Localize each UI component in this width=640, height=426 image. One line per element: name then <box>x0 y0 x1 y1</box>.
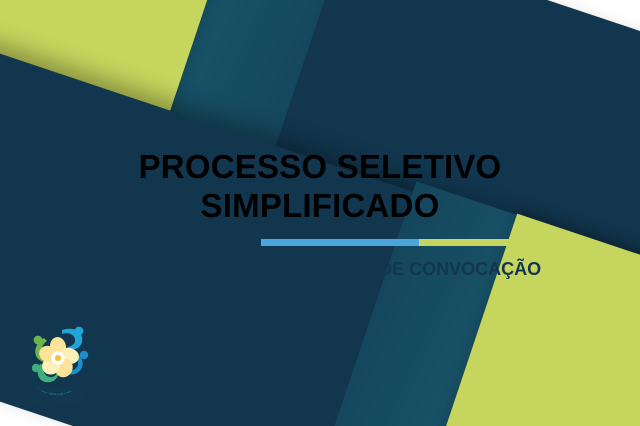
divider-segment-blue <box>261 239 419 246</box>
title-line-2: SIMPLIFICADO <box>0 187 640 226</box>
title-line-1: PROCESSO SELETIVO <box>0 148 640 187</box>
organization-logo: Cuidando para você feliz ALTO PARAÍSO DE… <box>24 320 206 404</box>
department-name: SECRETARIA MUNICIPAL DE SAÚDE E SANEAMEN… <box>107 324 206 401</box>
subtitle-line-2: N°006/2021 <box>0 281 640 304</box>
department-line-2: MUNICIPAL <box>107 343 192 362</box>
divider-segment-green <box>419 239 563 246</box>
logo-divider-line <box>98 324 99 400</box>
page-title: PROCESSO SELETIVO SIMPLIFICADO <box>0 148 640 225</box>
page-subtitle: PROCESSO SELETIVO - EDITAL DE CONVOCAÇÃO… <box>0 258 640 304</box>
seal-state-name: DE GOIÁS <box>31 397 68 404</box>
department-line-1: SECRETARIA <box>107 324 192 343</box>
subtitle-line-1: PROCESSO SELETIVO - EDITAL DE CONVOCAÇÃO <box>0 258 640 281</box>
alto-paraiso-de-goias-seal-icon: Cuidando para você feliz ALTO PARAÍSO DE… <box>24 320 92 404</box>
department-line-4: SANEAMENTO <box>107 381 192 400</box>
slide-content: PROCESSO SELETIVO SIMPLIFICADO PROCESSO … <box>0 0 640 426</box>
department-line-3: DE SAÚDE E <box>107 362 192 381</box>
divider-segment-navy <box>76 239 261 246</box>
divider-bar <box>76 239 563 246</box>
slide-canvas: PROCESSO SELETIVO SIMPLIFICADO PROCESSO … <box>0 0 640 426</box>
